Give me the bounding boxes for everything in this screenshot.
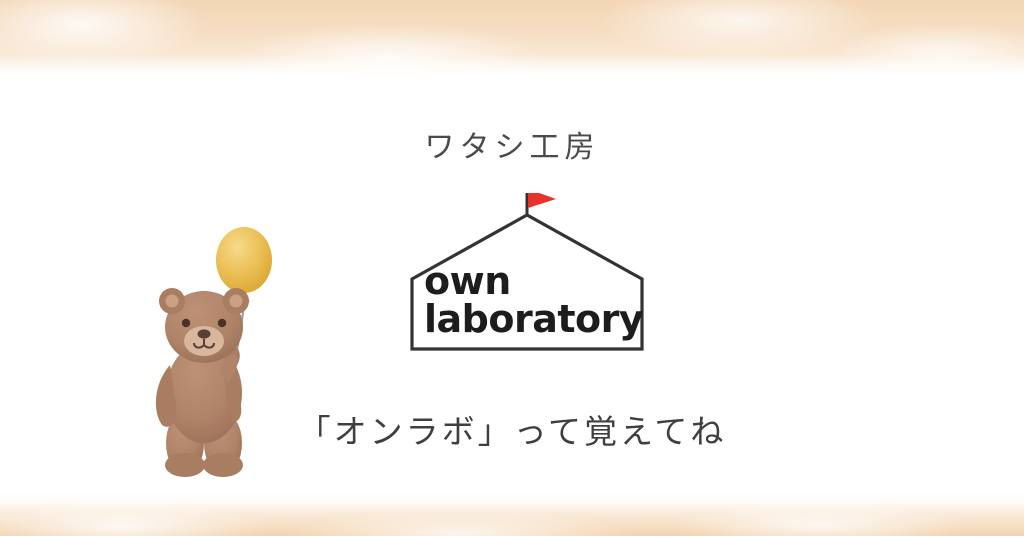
watercolor-band-top-fade — [0, 56, 1024, 82]
flag-icon — [528, 193, 556, 208]
tagline-text: 「オンラボ」って覚えてね — [0, 405, 1024, 453]
brand-kana-name: ワタシ工房 — [0, 122, 1024, 166]
watercolor-band-bottom-fade — [0, 488, 1024, 510]
own-laboratory-logo: own laboratory — [398, 193, 656, 361]
watercolor-band-top — [0, 0, 1024, 82]
house-outline-icon — [398, 193, 656, 361]
watercolor-band-bottom — [0, 488, 1024, 536]
banner-canvas: ワタシ工房 own laboratory — [0, 0, 1024, 536]
